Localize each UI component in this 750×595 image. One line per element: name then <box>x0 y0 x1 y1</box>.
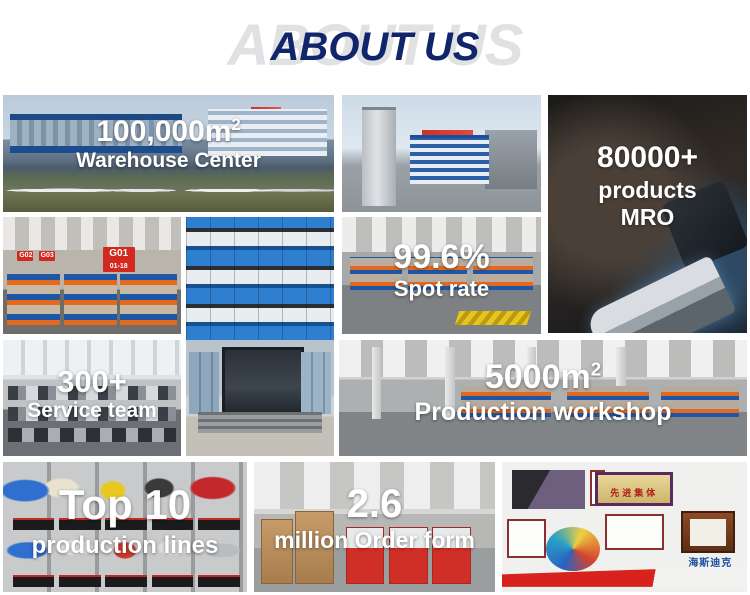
tile-warehouse-center[interactable]: 100,000m2 Warehouse Center <box>3 95 334 212</box>
photo-company-gate <box>342 95 541 212</box>
glass-wall-left-decor <box>189 352 219 415</box>
category-label-decor <box>105 575 146 587</box>
tile-label: Production workshop <box>343 400 743 425</box>
gate-sign-decor <box>422 130 474 137</box>
about-us-page: ABOUT US ABOUT US 100,000m2 Warehouse Ce… <box>0 0 750 595</box>
desk-row-decor <box>8 428 175 442</box>
tile-caption: 100,000m2 Warehouse Center <box>3 117 334 171</box>
tile-order-form[interactable]: 2.6 million Order form <box>254 462 495 592</box>
honor-certificate: 先进集体 <box>595 472 673 506</box>
page-title: ABOUT US <box>165 26 585 68</box>
glass-wall-right-decor <box>301 352 331 415</box>
tile-stat: 2.6 <box>258 484 491 524</box>
tile-label: million Order form <box>258 529 491 552</box>
category-label-decor <box>152 575 193 587</box>
tile-label: Spot rate <box>346 278 537 300</box>
flag-decor <box>251 107 281 114</box>
tile-certificates[interactable]: 先进集体 海斯迪克 <box>502 462 747 592</box>
category-label-decor <box>198 575 239 587</box>
tile-production-lines[interactable]: Top 10 production lines <box>3 462 247 592</box>
tile-products-mro[interactable]: 80000+ products MRO <box>548 95 747 333</box>
tile-spot-rate[interactable]: 99.6% Spot rate <box>342 217 541 334</box>
brand-watermark: 海斯迪克 <box>688 554 732 569</box>
category-label-decor <box>13 575 54 587</box>
tile-company-gate[interactable] <box>342 95 541 212</box>
wooden-plaque-decor <box>681 511 735 553</box>
tile-stat: 80000+ <box>552 143 743 173</box>
page-title-block: ABOUT US ABOUT US <box>0 0 750 88</box>
photo-warehouse-racks: G02 G03 G0101-18 <box>3 217 181 334</box>
tile-stat: 5000m2 <box>343 360 743 394</box>
rack-decor <box>64 273 117 324</box>
gate-right-building <box>485 130 537 189</box>
tile-label: production lines <box>7 534 243 558</box>
tile-label-line2: MRO <box>552 206 743 229</box>
ceiling-beams-decor <box>3 217 181 250</box>
photo-certificates-wall: 先进集体 海斯迪克 <box>502 462 747 592</box>
tile-stat: 100,000m2 <box>7 117 330 147</box>
tile-caption: 300+ Service team <box>3 366 181 421</box>
certificate-text: 先进集体 <box>598 486 670 499</box>
red-ribbon-decor <box>502 566 747 587</box>
globe-award-decor <box>546 527 600 571</box>
tile-building-entrance[interactable] <box>186 340 334 456</box>
tile-stat: 99.6% <box>346 240 537 274</box>
tile-service-team[interactable]: 300+ Service team <box>3 340 181 456</box>
aisle-sign-main: G0101-18 <box>103 247 135 272</box>
saw-blade-decor <box>584 255 736 333</box>
steps-decor <box>198 412 322 433</box>
tile-label: Warehouse Center <box>7 150 330 171</box>
tile-label-line1: products <box>552 179 743 202</box>
tile-caption: Top 10 production lines <box>3 484 247 558</box>
tile-caption: 99.6% Spot rate <box>342 240 541 300</box>
certificate-decor <box>507 519 546 558</box>
certificate-decor <box>605 514 664 550</box>
photo-building-entrance <box>186 340 334 456</box>
trophy-plaque-decor <box>512 470 586 509</box>
hedge-decor <box>3 193 334 212</box>
pallet-jack-decor <box>455 311 531 325</box>
rack-decor <box>7 273 60 324</box>
tile-stat: 300+ <box>7 366 177 397</box>
rack-decor <box>120 273 177 324</box>
tile-caption: 5000m2 Production workshop <box>339 360 747 425</box>
category-label-decor <box>59 575 100 587</box>
title-wrap: ABOUT US ABOUT US <box>165 14 585 74</box>
aisle-sign-small: G02 <box>17 251 33 261</box>
aisle-sign-small: G03 <box>39 251 55 261</box>
tile-caption: 80000+ products MRO <box>548 143 747 229</box>
tile-label: Service team <box>7 400 177 421</box>
tile-warehouse-racks[interactable]: G02 G03 G0101-18 <box>3 217 181 334</box>
tile-stat: Top 10 <box>7 484 243 526</box>
tile-production-workshop[interactable]: 5000m2 Production workshop <box>339 340 747 456</box>
tile-caption: 2.6 million Order form <box>254 484 495 552</box>
